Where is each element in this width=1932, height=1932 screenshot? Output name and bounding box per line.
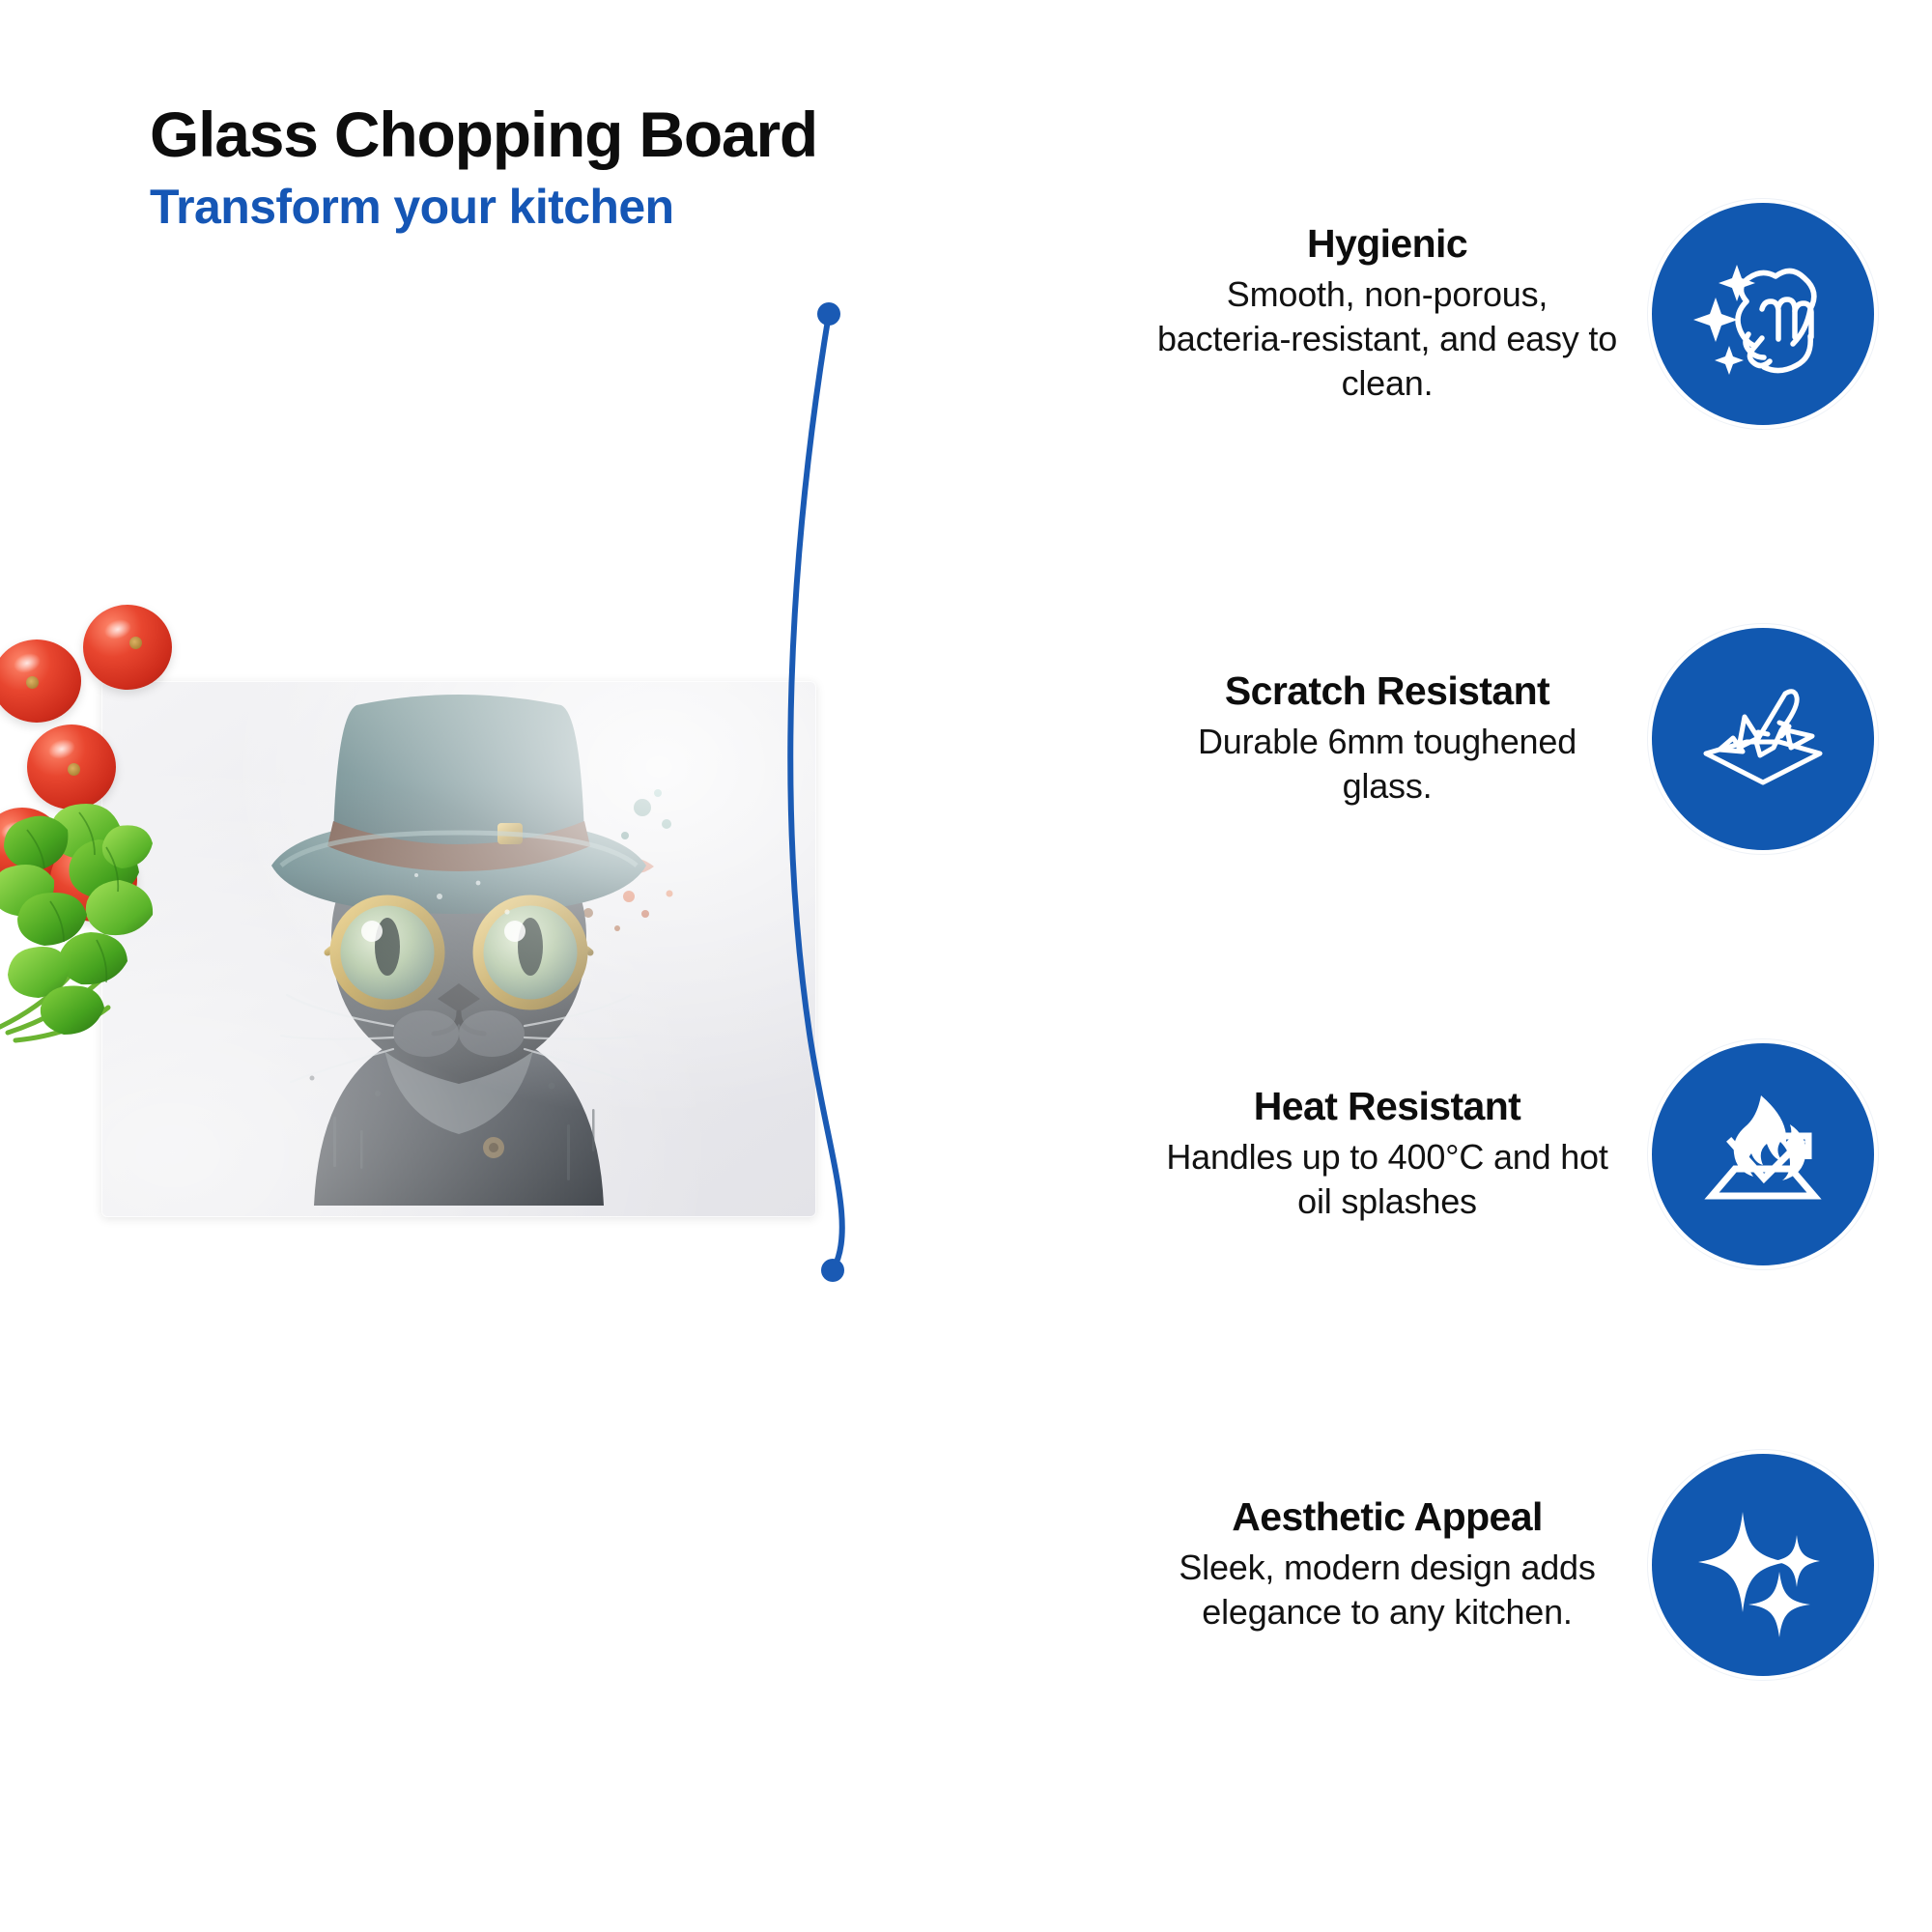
- feature-aesthetic-appeal: Aesthetic Appeal Sleek, modern design ad…: [1043, 1420, 1874, 1710]
- hand-wiping-sparkle-icon: [1652, 203, 1874, 425]
- feature-text-block: Heat Resistant Handles up to 400°C and h…: [1155, 1085, 1619, 1223]
- feature-title: Scratch Resistant: [1155, 669, 1619, 714]
- cat-artwork-icon: [188, 694, 729, 1206]
- feature-text-block: Scratch Resistant Durable 6mm toughened …: [1155, 669, 1619, 808]
- product-photo: [0, 599, 869, 1275]
- parsley-garnish: [0, 787, 224, 1048]
- feature-title: Hygienic: [1155, 222, 1619, 267]
- feature-text-block: Aesthetic Appeal Sleek, modern design ad…: [1155, 1495, 1619, 1634]
- sparkles-icon: [1652, 1454, 1874, 1676]
- knife-scratch-surface-icon: [1652, 628, 1874, 850]
- feature-description: Sleek, modern design adds elegance to an…: [1155, 1546, 1619, 1634]
- feature-title: Aesthetic Appeal: [1155, 1495, 1619, 1540]
- feature-hygienic: Hygienic Smooth, non-porous, bacteria-re…: [1043, 169, 1874, 459]
- feature-description: Smooth, non-porous, bacteria-resistant, …: [1155, 272, 1619, 405]
- feature-title: Heat Resistant: [1155, 1085, 1619, 1129]
- cherry-tomato: [83, 605, 172, 690]
- feature-scratch-resistant: Scratch Resistant Durable 6mm toughened …: [1043, 594, 1874, 884]
- header: Glass Chopping Board Transform your kitc…: [150, 101, 1116, 234]
- flame-deflect-surface-icon: [1652, 1043, 1874, 1265]
- feature-description: Handles up to 400°C and hot oil splashes: [1155, 1135, 1619, 1223]
- cherry-tomato: [0, 639, 81, 723]
- feature-text-block: Hygienic Smooth, non-porous, bacteria-re…: [1155, 222, 1619, 405]
- page-title: Glass Chopping Board: [150, 101, 1116, 169]
- feature-heat-resistant: Heat Resistant Handles up to 400°C and h…: [1043, 1009, 1874, 1299]
- page-subtitle: Transform your kitchen: [150, 181, 1116, 234]
- feature-description: Durable 6mm toughened glass.: [1155, 720, 1619, 808]
- connector-dot-top: [817, 302, 840, 326]
